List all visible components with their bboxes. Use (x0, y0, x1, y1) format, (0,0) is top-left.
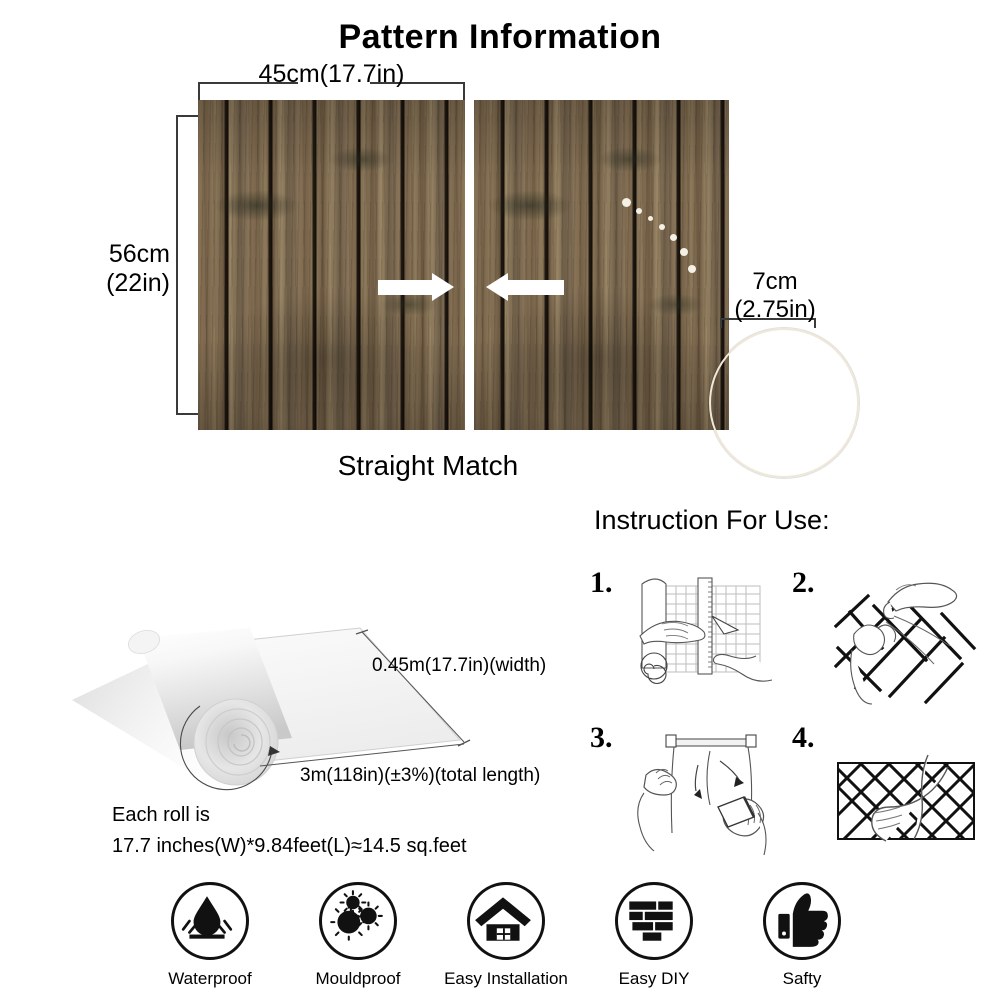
feature-label: Mouldproof (288, 969, 428, 989)
callout-trail-dot (688, 265, 696, 273)
smooth-with-squeegee-icon (632, 717, 778, 863)
instruction-step-4: 4. (790, 715, 980, 865)
callout-trail-dot (622, 198, 631, 207)
step-number: 1. (590, 566, 613, 600)
height-dimension-tick-top (176, 115, 198, 117)
instruction-step-3: 3. (588, 715, 778, 865)
step-number: 2. (792, 566, 815, 600)
width-dimension-label: 45cm(17.7in) (198, 60, 465, 89)
wood-swatch-right (474, 100, 729, 430)
height-dimension-tick-bottom (176, 413, 198, 415)
callout-trail-dot (670, 234, 677, 241)
badge-ring (171, 882, 249, 960)
magnifier-label-in: (2.75in) (700, 296, 850, 324)
feature-safty: Safty (732, 882, 872, 989)
feature-label: Easy Installation (436, 969, 576, 989)
badge-ring (467, 882, 545, 960)
badge-ring (615, 882, 693, 960)
instruction-step-1: 1. (588, 560, 778, 710)
step-number: 3. (590, 721, 613, 755)
match-type-caption: Straight Match (198, 450, 658, 482)
pattern-seam-gap (465, 100, 474, 430)
feature-badges: Waterproof Mouldproof (140, 882, 860, 997)
feature-easy-diy: Easy DIY (584, 882, 724, 989)
callout-trail-dot (659, 224, 665, 230)
measure-and-cut-icon (632, 562, 778, 708)
wood-swatch-left (198, 100, 465, 430)
height-dimension-line (176, 115, 178, 415)
height-dimension-label-cm: 56cm (10, 240, 170, 269)
mould-spore-icon (324, 887, 386, 949)
callout-trail-dot (680, 248, 688, 256)
roll-width-tick-bottom (458, 740, 470, 746)
callout-trail-dot (648, 216, 653, 221)
feature-easy-installation: Easy Installation (436, 882, 576, 989)
height-dimension-label-in: (22in) (10, 269, 170, 298)
roll-description: Each roll is 17.7 inches(W)*9.84feet(L)≈… (112, 800, 467, 862)
roll-width-label: 0.45m(17.7in)(width) (372, 655, 546, 677)
magnifier-circle (709, 328, 859, 478)
house-icon (472, 887, 534, 949)
feature-label: Waterproof (140, 969, 280, 989)
feature-label: Safty (732, 969, 872, 989)
callout-trail-dot (636, 208, 642, 214)
weathering-overlay (198, 100, 465, 430)
feature-mouldproof: Mouldproof (288, 882, 428, 989)
badge-ring (763, 882, 841, 960)
water-drop-icon (176, 887, 238, 949)
roll-length-label: 3m(118in)(±3%)(total length) (300, 765, 540, 787)
brick-wall-icon (620, 887, 682, 949)
roll-description-line2: 17.7 inches(W)*9.84feet(L)≈14.5 sq.feet (112, 831, 467, 862)
instructions-heading: Instruction For Use: (594, 505, 830, 536)
roll-description-line1: Each roll is (112, 800, 467, 831)
height-dimension-label: 56cm (22in) (10, 240, 170, 298)
pattern-diagram: 45cm(17.7in) 56cm (22in) 7cm (0, 100, 1000, 500)
feature-waterproof: Waterproof (140, 882, 280, 989)
step-number: 4. (792, 721, 815, 755)
peel-backing-icon (834, 562, 980, 708)
magnifier-dimension-label: 7cm (2.75in) (700, 268, 850, 323)
instruction-step-2: 2. (790, 560, 980, 710)
press-onto-wall-icon (834, 717, 980, 863)
thumbs-up-icon (768, 887, 830, 949)
page-title: Pattern Information (0, 18, 1000, 57)
magnifier-label-cm: 7cm (700, 268, 850, 296)
badge-ring (319, 882, 397, 960)
feature-label: Easy DIY (584, 969, 724, 989)
